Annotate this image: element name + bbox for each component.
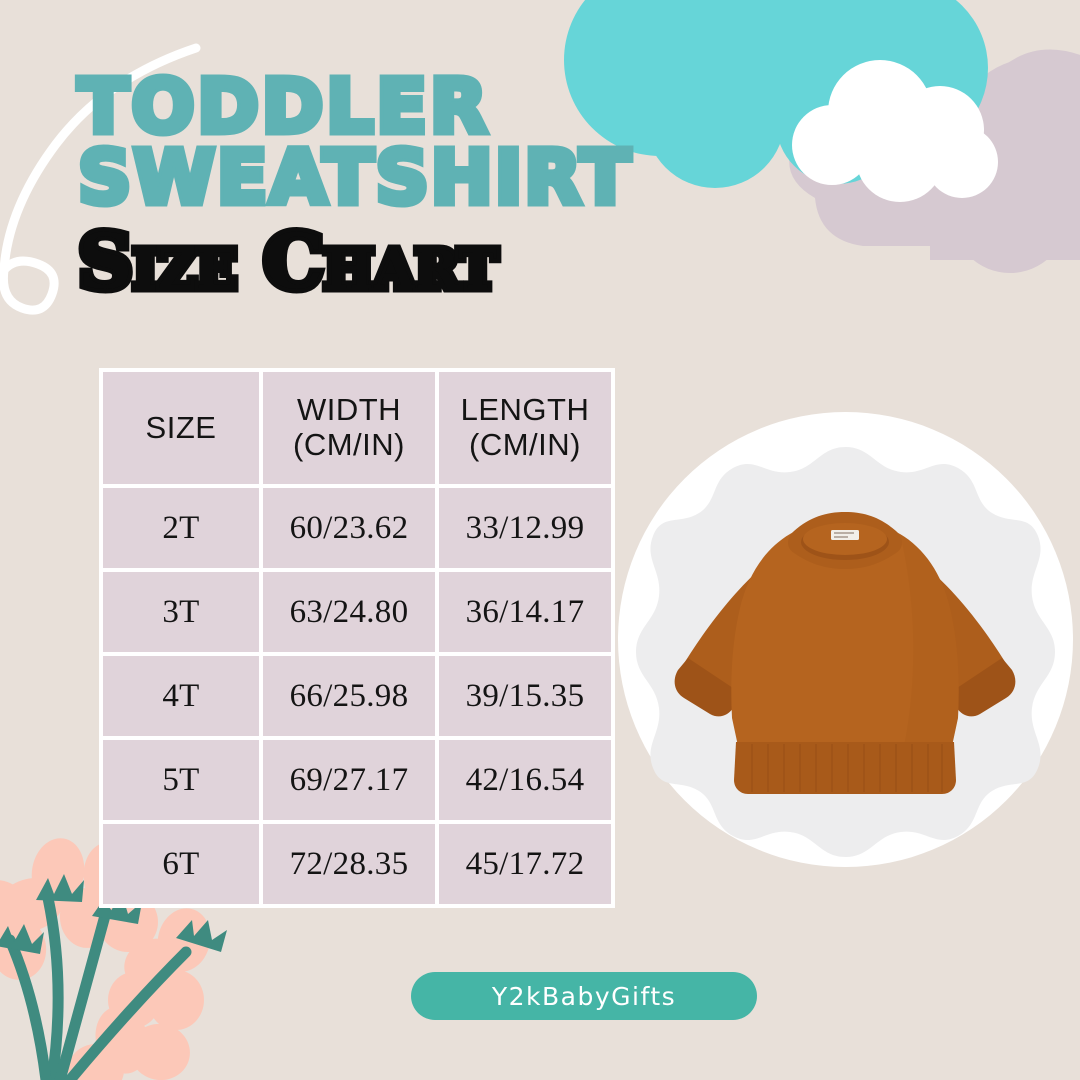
size-chart-poster: TODDLER SWEATSHIRT Size Chart SIZE WIDTH… <box>0 0 1080 1080</box>
table-row: 5T 69/27.17 42/16.54 <box>103 740 611 820</box>
cell-length: 45/17.72 <box>439 824 611 904</box>
column-header-length: LENGTH (CM/IN) <box>439 372 611 484</box>
table-header-row: SIZE WIDTH (CM/IN) LENGTH (CM/IN) <box>103 372 611 484</box>
mauve-cloud-icon <box>789 50 1080 273</box>
product-image-frame <box>618 412 1073 867</box>
cell-size: 3T <box>103 572 259 652</box>
table-row: 6T 72/28.35 45/17.72 <box>103 824 611 904</box>
neck-label <box>831 530 859 540</box>
table-header: SIZE WIDTH (CM/IN) LENGTH (CM/IN) <box>103 372 611 484</box>
page-title: TODDLER SWEATSHIRT Size Chart <box>78 72 798 300</box>
cell-width: 72/28.35 <box>263 824 435 904</box>
cell-size: 6T <box>103 824 259 904</box>
cell-width: 66/25.98 <box>263 656 435 736</box>
cell-length: 36/14.17 <box>439 572 611 652</box>
cell-width: 60/23.62 <box>263 488 435 568</box>
cell-length: 39/15.35 <box>439 656 611 736</box>
column-header-size-label: SIZE <box>146 410 217 445</box>
brand-name: Y2kBabyGifts <box>492 982 676 1011</box>
table-row: 3T 63/24.80 36/14.17 <box>103 572 611 652</box>
cell-width: 69/27.17 <box>263 740 435 820</box>
cell-size: 4T <box>103 656 259 736</box>
table-body: 2T 60/23.62 33/12.99 3T 63/24.80 36/14.1… <box>103 488 611 904</box>
column-header-length-label: LENGTH <box>461 392 590 427</box>
subtitle-size-chart: Size Chart <box>78 224 798 300</box>
column-header-width-units: (CM/IN) <box>293 427 405 462</box>
column-header-width: WIDTH (CM/IN) <box>263 372 435 484</box>
brand-badge: Y2kBabyGifts <box>411 972 757 1020</box>
cell-width: 63/24.80 <box>263 572 435 652</box>
table-row: 4T 66/25.98 39/15.35 <box>103 656 611 736</box>
table-row: 2T 60/23.62 33/12.99 <box>103 488 611 568</box>
cell-size: 5T <box>103 740 259 820</box>
cell-size: 2T <box>103 488 259 568</box>
title-line-2: SWEATSHIRT <box>78 143 798 214</box>
column-header-length-units: (CM/IN) <box>469 427 581 462</box>
column-header-width-label: WIDTH <box>297 392 401 427</box>
cell-length: 42/16.54 <box>439 740 611 820</box>
cell-length: 33/12.99 <box>439 488 611 568</box>
column-header-size: SIZE <box>103 372 259 484</box>
white-cloud-icon <box>792 60 998 202</box>
size-chart-table: SIZE WIDTH (CM/IN) LENGTH (CM/IN) 2T 60/… <box>99 368 615 908</box>
title-line-1: TODDLER <box>78 72 798 143</box>
